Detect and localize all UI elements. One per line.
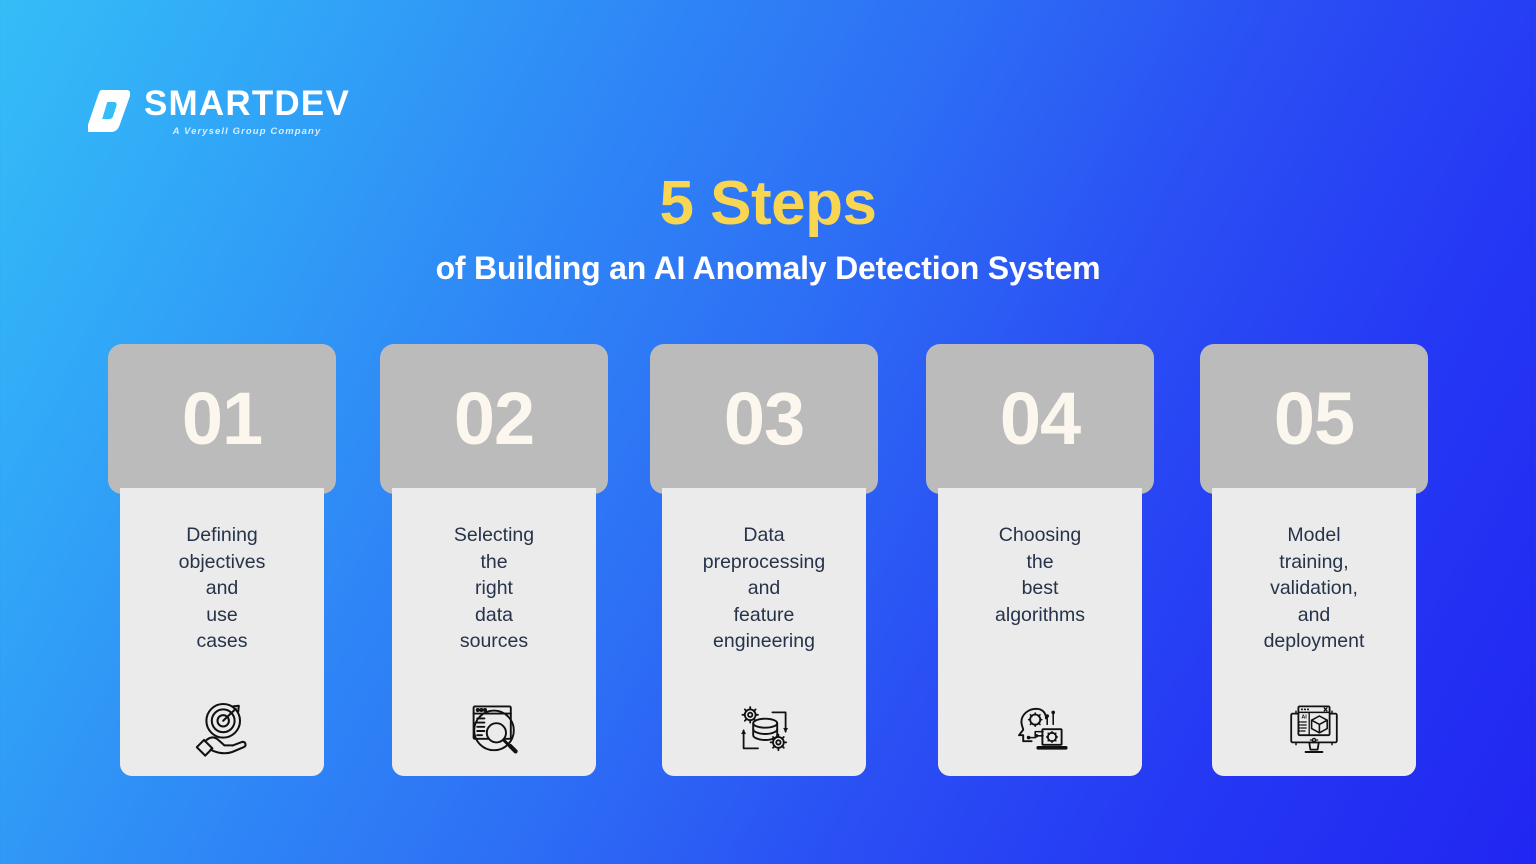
step-number-05: 05 — [1274, 382, 1354, 456]
page-subtitle: of Building an AI Anomaly Detection Syst… — [0, 250, 1536, 287]
step-header-03: 03 — [650, 344, 878, 494]
steps-container: 01 Defining objectives and use cases — [100, 340, 1436, 780]
brand-text: SMARTDEV A Verysell Group Company — [144, 86, 350, 137]
database-gears-process-icon — [726, 682, 802, 758]
browser-magnifier-search-icon — [456, 682, 532, 758]
step-body-01: Defining objectives and use cases — [120, 488, 324, 776]
step-header-05: 05 — [1200, 344, 1428, 494]
step-card-02[interactable]: 02 Selecting the right data sources — [380, 344, 608, 780]
step-card-04[interactable]: 04 Choosing the best algorithms — [926, 344, 1154, 780]
step-header-04: 04 — [926, 344, 1154, 494]
step-card-05[interactable]: 05 Model training, validation, and deplo… — [1200, 344, 1428, 780]
monitor-ai-cube-deploy-icon: AI — [1276, 682, 1352, 758]
step-card-03[interactable]: 03 Data preprocessing and feature engine… — [650, 344, 878, 780]
step-header-02: 02 — [380, 344, 608, 494]
brand-logo: SMARTDEV A Verysell Group Company — [88, 86, 350, 137]
step-label-05: Model training, validation, and deployme… — [1264, 522, 1365, 655]
double-chevron-right-icon-1 — [350, 854, 422, 864]
ai-head-laptop-icon — [1002, 682, 1078, 758]
step-number-04: 04 — [1000, 382, 1080, 456]
step-body-04: Choosing the best algorithms — [938, 488, 1142, 776]
svg-text:AI: AI — [1301, 714, 1307, 720]
step-label-02: Selecting the right data sources — [454, 522, 534, 655]
step-body-03: Data preprocessing and feature engineeri… — [662, 488, 866, 776]
double-chevron-right-icon-3 — [895, 854, 967, 864]
page-title: 5 Steps — [0, 168, 1536, 239]
step-label-04: Choosing the best algorithms — [995, 522, 1085, 628]
step-body-02: Selecting the right data sources — [392, 488, 596, 776]
step-label-01: Defining objectives and use cases — [179, 522, 266, 655]
brand-tagline: A Verysell Group Company — [173, 127, 322, 137]
step-card-01[interactable]: 01 Defining objectives and use cases — [108, 344, 336, 780]
hand-holding-target-icon — [184, 682, 260, 758]
double-chevron-right-icon-2 — [622, 854, 694, 864]
step-number-02: 02 — [454, 382, 534, 456]
double-chevron-right-icon-4 — [1168, 854, 1240, 864]
smartdev-d-mark-icon — [88, 88, 130, 134]
step-header-01: 01 — [108, 344, 336, 494]
step-label-03: Data preprocessing and feature engineeri… — [703, 522, 825, 655]
step-body-05: Model training, validation, and deployme… — [1212, 488, 1416, 776]
step-number-01: 01 — [182, 382, 262, 456]
step-number-03: 03 — [724, 382, 804, 456]
brand-name: SMARTDEV — [144, 86, 350, 121]
